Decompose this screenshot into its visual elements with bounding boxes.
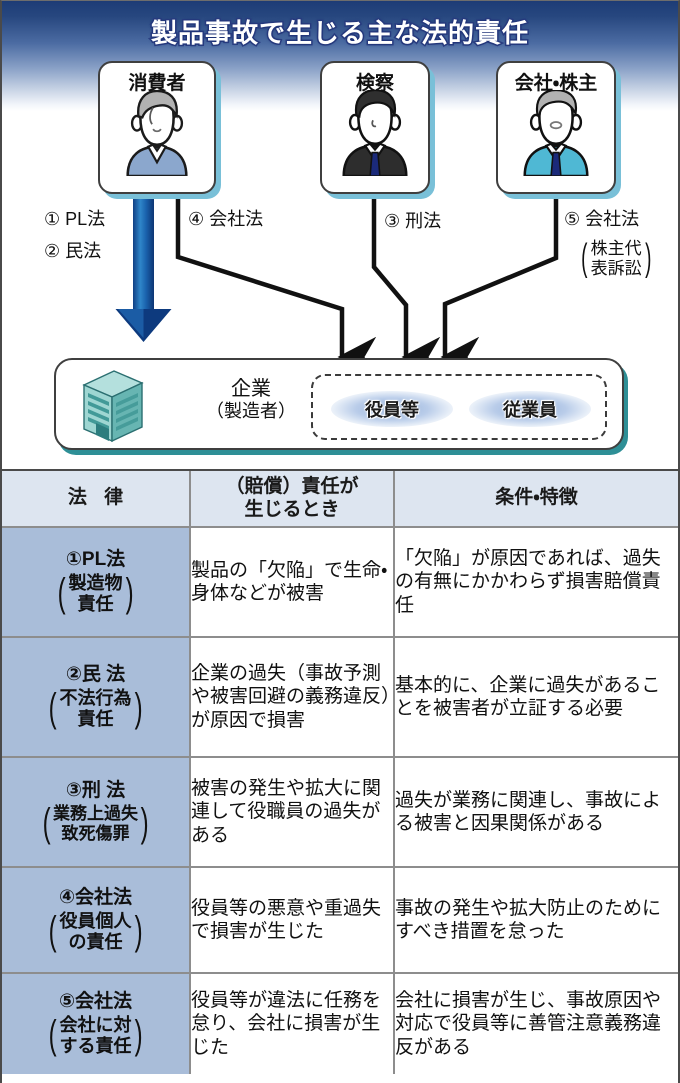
line-companies-law-5 bbox=[445, 197, 556, 357]
officers-employees-group: 役員等 従業員 bbox=[311, 374, 607, 440]
table-row: ③刑 法 ( 業務上過失 致死傷罪 ) 被害の発生や拡大に関連して役職員の過失が… bbox=[2, 757, 678, 867]
law-paren-1: ( 製造物 責任 ) bbox=[2, 573, 189, 615]
column-header-law: 法 律 bbox=[2, 471, 190, 527]
law-name-5: ⑤会社法 bbox=[2, 991, 189, 1014]
liability-table-wrapper: 法 律 （賠償）責任が 生じるとき 条件・特徴 ①PL法 ( bbox=[2, 469, 678, 1082]
law-paren-5-line2: する責任 bbox=[60, 1036, 132, 1057]
consumer-avatar bbox=[100, 90, 214, 176]
law-paren-2: ( 不法行為 責任 ) bbox=[2, 688, 189, 730]
paren-close-icon: ) bbox=[134, 1020, 142, 1051]
prosecutor-avatar bbox=[322, 90, 428, 176]
law-paren-4: ( 役員個人 の責任 ) bbox=[2, 911, 189, 953]
table-header-row: 法 律 （賠償）責任が 生じるとき 条件・特徴 bbox=[2, 471, 678, 527]
law-paren-3-line1: 業務上過失 bbox=[53, 804, 138, 824]
law-paren-3: ( 業務上過失 致死傷罪 ) bbox=[2, 804, 189, 843]
law-paren-1-line1: 製造物 bbox=[69, 573, 123, 594]
law-paren-5: ( 会社に対 する責任 ) bbox=[2, 1015, 189, 1057]
note-line-2: 表訴訟 bbox=[591, 259, 642, 279]
paren-close-icon: ) bbox=[141, 808, 149, 839]
cell-when-3: 被害の発生や拡大に関連して役職員の過失がある bbox=[190, 757, 394, 867]
actor-card-prosecutor[interactable]: 検察 bbox=[320, 61, 430, 194]
cell-condition-3: 過失が業務に関連し、事故による被害と因果関係がある bbox=[394, 757, 678, 867]
paren-open-icon: ( bbox=[581, 245, 587, 272]
cell-law-5: ⑤会社法 ( 会社に対 する責任 ) bbox=[2, 973, 190, 1074]
table-row: ①PL法 ( 製造物 責任 ) 製品の「欠陥」で生命・身体などが被害 「欠陥」が… bbox=[2, 527, 678, 637]
paren-close-icon: ) bbox=[134, 693, 142, 724]
note-line-1: 株主代 bbox=[591, 239, 642, 259]
cell-law-2: ②民 法 ( 不法行為 責任 ) bbox=[2, 637, 190, 757]
paren-open-icon: ( bbox=[49, 693, 57, 724]
paren-open-icon: ( bbox=[49, 916, 57, 947]
cell-law-1: ①PL法 ( 製造物 責任 ) bbox=[2, 527, 190, 637]
company-sublabel: （製造者） bbox=[186, 401, 316, 423]
law-paren-3-line2: 致死傷罪 bbox=[53, 824, 138, 844]
law-paren-2-line1: 不法行為 bbox=[60, 688, 132, 709]
arrow-label-companies-law-5-note: ( 株主代 表訴訟 ) bbox=[578, 239, 654, 279]
cell-law-3: ③刑 法 ( 業務上過失 致死傷罪 ) bbox=[2, 757, 190, 867]
cell-condition-2: 基本的に、企業に過失があることを被害者が立証する必要 bbox=[394, 637, 678, 757]
table-row: ②民 法 ( 不法行為 責任 ) 企業の過失（事故予測や被害回避の義務違反）が原… bbox=[2, 637, 678, 757]
law-paren-4-line2: の責任 bbox=[60, 932, 132, 953]
paren-close-icon: ) bbox=[134, 916, 142, 947]
company-name: 企業 bbox=[186, 377, 316, 401]
law-paren-4-line1: 役員個人 bbox=[60, 911, 132, 932]
cell-condition-4: 事故の発生や拡大防止のためにすべき措置を怠った bbox=[394, 867, 678, 973]
arrow-label-pl-law: ① PL法 bbox=[44, 209, 105, 230]
arrow-label-companies-law-4: ④ 会社法 bbox=[188, 209, 263, 230]
cell-law-4: ④会社法 ( 役員個人 の責任 ) bbox=[2, 867, 190, 973]
header-when-line1: （賠償）責任が bbox=[191, 476, 393, 498]
liability-table: 法 律 （賠償）責任が 生じるとき 条件・特徴 ①PL法 ( bbox=[2, 471, 678, 1074]
company-box: 企業 （製造者） 役員等 従業員 bbox=[54, 358, 624, 450]
header-when-line2: 生じるとき bbox=[191, 499, 393, 521]
badge-officer[interactable]: 役員等 bbox=[331, 391, 453, 427]
law-paren-5-line1: 会社に対 bbox=[60, 1015, 132, 1036]
law-name-3: ③刑 法 bbox=[2, 780, 189, 803]
law-paren-2-line2: 責任 bbox=[60, 709, 132, 730]
column-header-condition: 条件・特徴 bbox=[394, 471, 678, 527]
law-name-4: ④会社法 bbox=[2, 887, 189, 910]
building-icon bbox=[76, 367, 148, 445]
cell-when-5: 役員等が違法に任務を怠り、会社に損害が生じた bbox=[190, 973, 394, 1074]
law-paren-1-line2: 責任 bbox=[69, 594, 123, 615]
arrow-label-civil-law: ② 民法 bbox=[44, 241, 101, 262]
law-name-1: ①PL法 bbox=[2, 549, 189, 572]
cell-when-4: 役員等の悪意や重過失で損害が生じた bbox=[190, 867, 394, 973]
actor-card-consumer[interactable]: 消費者 bbox=[98, 61, 216, 194]
infographic-page: 製品事故で生じる主な法的責任 bbox=[0, 0, 680, 1083]
law-name-2: ②民 法 bbox=[2, 664, 189, 687]
arrow-label-companies-law-5: ⑤ 会社法 bbox=[564, 209, 639, 230]
cell-when-1: 製品の「欠陥」で生命・身体などが被害 bbox=[190, 527, 394, 637]
paren-close-icon: ) bbox=[125, 578, 133, 609]
column-header-when: （賠償）責任が 生じるとき bbox=[190, 471, 394, 527]
cell-condition-5: 会社に損害が生じ、事故原因や対応で役員等に善管注意義務違反がある bbox=[394, 973, 678, 1074]
badge-employee[interactable]: 従業員 bbox=[469, 391, 591, 427]
table-row: ④会社法 ( 役員個人 の責任 ) 役員等の悪意や重過失で損害が生じた 事故の発… bbox=[2, 867, 678, 973]
cell-when-2: 企業の過失（事故予測や被害回避の義務違反）が原因で損害 bbox=[190, 637, 394, 757]
paren-open-icon: ( bbox=[49, 1020, 57, 1051]
liability-flow-diagram: 製品事故で生じる主な法的責任 bbox=[2, 1, 678, 469]
arrow-label-criminal-law: ③ 刑法 bbox=[384, 211, 441, 232]
paren-close-icon: ) bbox=[645, 245, 651, 272]
paren-open-icon: ( bbox=[42, 808, 50, 839]
blue-arrow-consumer-to-company bbox=[116, 197, 172, 342]
cell-condition-1: 「欠陥」が原因であれば、過失の有無にかかわらず損害賠償責任 bbox=[394, 527, 678, 637]
actor-card-shareholder[interactable]: 会社・株主 bbox=[496, 61, 616, 194]
company-label: 企業 （製造者） bbox=[186, 377, 316, 423]
table-row: ⑤会社法 ( 会社に対 する責任 ) 役員等が違法に任務を怠り、会社に損害が生じ… bbox=[2, 973, 678, 1074]
shareholder-avatar bbox=[498, 90, 614, 176]
paren-open-icon: ( bbox=[58, 578, 66, 609]
